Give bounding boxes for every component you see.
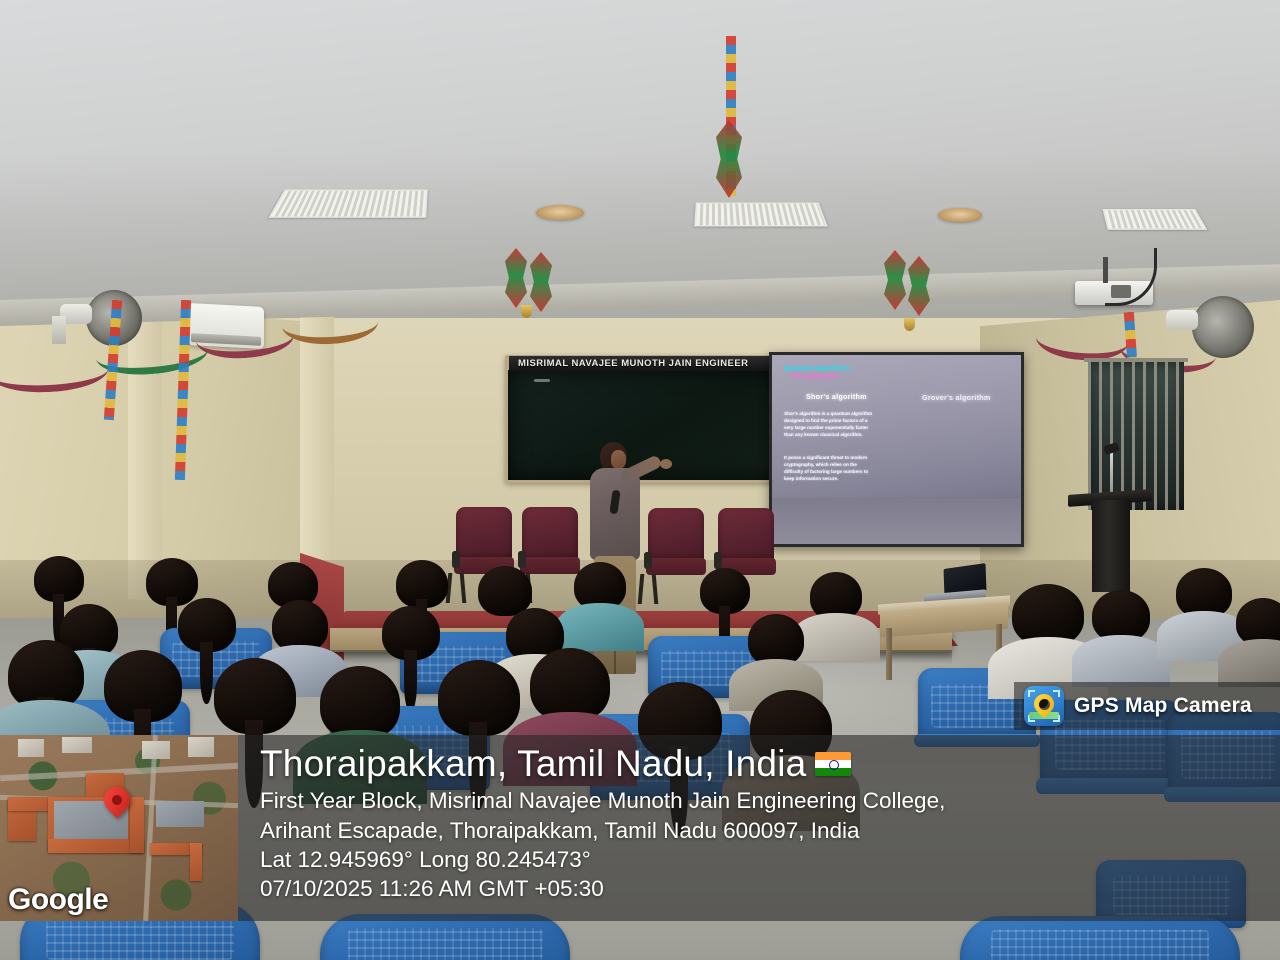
attendee-r1-6 — [574, 562, 626, 610]
photograph: MISRIMAL NAVAJEE MUNOTH JAIN ENGINEER Qu… — [0, 0, 1280, 960]
window-security-bars — [1088, 360, 1184, 510]
gps-camera-pin-icon — [1024, 686, 1064, 726]
fan-mount-arm — [52, 316, 66, 344]
map-building-4 — [188, 737, 214, 757]
city-line-row: Thoraipakkam, Tamil Nadu, India — [260, 745, 1266, 783]
fan-motor-body — [1166, 310, 1198, 330]
ceiling-panel-light-1 — [268, 190, 427, 218]
attendee-shoulders — [792, 613, 879, 661]
attendee-r3-2 — [104, 650, 182, 722]
attendee-r3-1 — [8, 640, 84, 710]
attendee-braid — [200, 642, 213, 704]
foreground-chair-3 — [960, 916, 1240, 960]
table-leg-1 — [886, 628, 892, 680]
map-building-right-wing-2 — [190, 843, 202, 881]
attendee-right-2 — [1176, 568, 1232, 618]
coordinates-line: Lat 12.945969° Long 80.245473° — [260, 845, 1266, 874]
attendee-braid — [404, 650, 417, 712]
attendee-r3-6 — [530, 648, 610, 722]
presenter-torso — [590, 468, 640, 560]
chair-backrest — [522, 507, 578, 561]
map-building-3 — [142, 741, 170, 759]
map-building-1 — [18, 739, 44, 757]
attendee-r2-2 — [178, 598, 236, 652]
hanging-bell-1 — [521, 305, 532, 318]
slide-title-line-2: The superpower — [791, 373, 850, 380]
slide-paragraph-2: It poses a significant threat to modern … — [784, 455, 874, 483]
timestamp-line: 07/10/2025 11:26 AM GMT +05:30 — [260, 874, 1266, 903]
chair-arm-right — [452, 551, 460, 568]
chair-backrest — [648, 508, 704, 562]
chair-seat — [646, 558, 706, 575]
attendee-r2-6 — [748, 614, 804, 666]
attendee-r3-5 — [438, 660, 520, 736]
map-building-5 — [156, 801, 204, 827]
gps-map-camera-watermark: GPS Map Camera — [1014, 682, 1280, 730]
hanging-bell-2 — [904, 318, 915, 331]
attendee-right-1 — [1092, 590, 1150, 642]
attendee-shoulders — [1072, 635, 1169, 687]
attendee-r1-8 — [810, 572, 862, 620]
banner-text: MISRIMAL NAVAJEE MUNOTH JAIN ENGINEER — [509, 358, 748, 369]
attendee-photographer — [1012, 584, 1084, 646]
podium-column — [1092, 500, 1130, 592]
attendee-r1-4 — [396, 560, 448, 608]
wall-pillar-mid — [300, 312, 334, 582]
presenter-hand — [660, 459, 672, 469]
projection-screen: Quantum algorithms The superpower Shor's… — [772, 355, 1021, 544]
slide-heading-shor: Shor's algorithm — [806, 392, 867, 401]
slide-heading-grover: Grover's algorithm — [922, 393, 991, 402]
map-road-v1 — [143, 735, 158, 921]
ceiling-disc-light-1 — [536, 205, 584, 220]
slide-title-block: Quantum algorithms The superpower — [784, 365, 850, 380]
attendee-r2-3 — [272, 600, 328, 652]
map-thumbnail[interactable]: Google — [0, 735, 238, 921]
attendee-shoulders — [1218, 639, 1280, 687]
location-info-panel: Google Thoraipakkam, Tamil Nadu, India F… — [0, 735, 1280, 921]
google-watermark: Google — [8, 883, 108, 917]
map-campus-wing-2 — [130, 797, 144, 853]
attendee-hair — [530, 648, 610, 722]
attendee-r3-4 — [320, 666, 400, 740]
bracket-top-right — [1053, 690, 1060, 697]
chalk-mark — [534, 379, 550, 382]
attendee-r1-7 — [700, 568, 750, 614]
slide-title-line-1: Quantum algorithms — [784, 365, 850, 373]
slide-paragraph-1: Shor's algorithm is a quantum algorithm … — [784, 411, 874, 439]
ceiling-panel-light-2 — [694, 202, 828, 226]
attendee-r2-4 — [382, 606, 440, 660]
attendee-r1-1 — [34, 556, 84, 602]
attendee-hair — [320, 666, 400, 740]
attendee-shoulders — [556, 603, 643, 651]
presenter-face — [611, 450, 626, 469]
address-line-2: Arihant Escapade, Thoraipakkam, Tamil Na… — [260, 816, 1266, 845]
attendee-right-3 — [1236, 598, 1280, 646]
ceiling-panel-light-3 — [1103, 209, 1208, 230]
ceiling-disc-light-2 — [938, 208, 982, 222]
chair-arm-right — [714, 552, 722, 569]
attendee-r3-3 — [214, 658, 296, 734]
window-bar-rail — [1084, 358, 1188, 362]
location-text-block: Thoraipakkam, Tamil Nadu, India First Ye… — [238, 735, 1280, 921]
projection-screen-frame: Quantum algorithms The superpower Shor's… — [769, 352, 1024, 547]
address-line-1: First Year Block, Misrimal Navajee Munot… — [260, 786, 1266, 815]
icon-camera-lens — [1039, 699, 1050, 710]
map-building-2 — [62, 737, 92, 753]
college-name-banner: MISRIMAL NAVAJEE MUNOTH JAIN ENGINEER — [509, 356, 783, 371]
bracket-top-left — [1028, 690, 1035, 697]
chair-backrest — [960, 916, 1240, 960]
screen-blank-area — [772, 498, 1021, 544]
city-line: Thoraipakkam, Tamil Nadu, India — [260, 745, 806, 783]
chair-backrest — [456, 507, 512, 561]
india-flag-icon — [815, 752, 851, 776]
watermark-label: GPS Map Camera — [1074, 694, 1252, 718]
chair-backrest — [718, 508, 774, 562]
